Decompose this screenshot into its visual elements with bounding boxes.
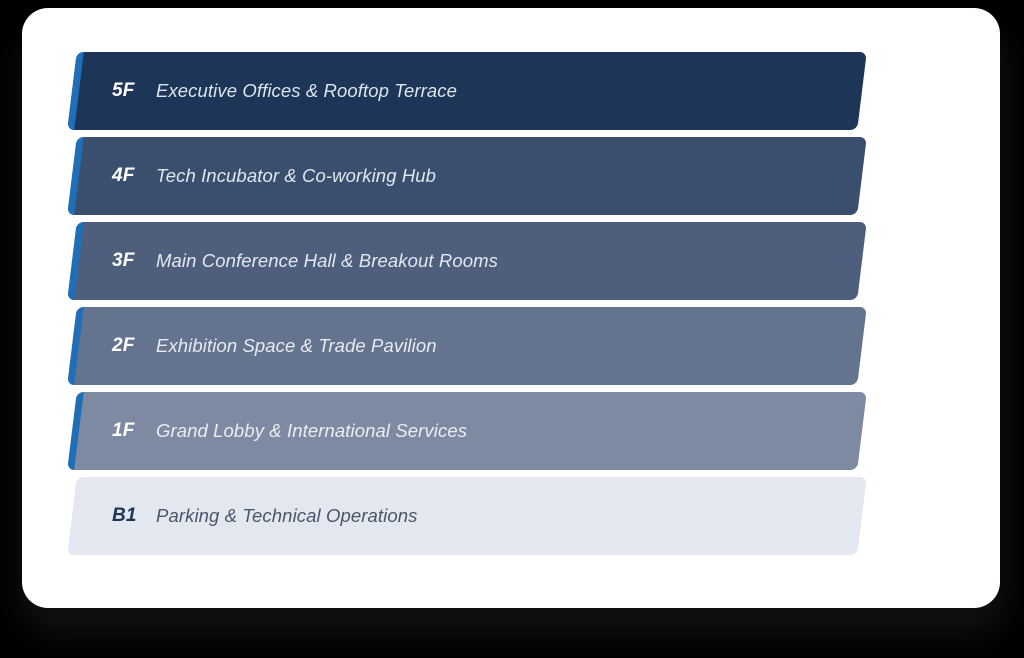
floor-row[interactable]: 1FGrand Lobby & International Services <box>72 392 862 470</box>
floor-row-shape <box>67 477 867 555</box>
floor-row-shape <box>67 307 867 385</box>
floor-row[interactable]: B1Parking & Technical Operations <box>72 477 862 555</box>
floor-row[interactable]: 3FMain Conference Hall & Breakout Rooms <box>72 222 862 300</box>
floor-accent-stripe <box>67 222 84 300</box>
floor-row[interactable]: 5FExecutive Offices & Rooftop Terrace <box>72 52 862 130</box>
floor-row[interactable]: 4FTech Incubator & Co-working Hub <box>72 137 862 215</box>
floor-accent-stripe <box>67 307 84 385</box>
floor-row-shape <box>67 392 867 470</box>
floor-row-shape <box>67 137 867 215</box>
floor-row-shape <box>67 222 867 300</box>
floor-accent-stripe <box>67 392 84 470</box>
floor-row[interactable]: 2FExhibition Space & Trade Pavilion <box>72 307 862 385</box>
floor-list[interactable]: 5FExecutive Offices & Rooftop Terrace4FT… <box>22 8 1000 608</box>
floor-row-shape <box>67 52 867 130</box>
floor-accent-stripe <box>67 137 84 215</box>
floor-accent-stripe <box>67 52 84 130</box>
building-floor-directory-card: 5FExecutive Offices & Rooftop Terrace4FT… <box>22 8 1000 608</box>
screenshot-root: 5FExecutive Offices & Rooftop Terrace4FT… <box>0 0 1024 658</box>
